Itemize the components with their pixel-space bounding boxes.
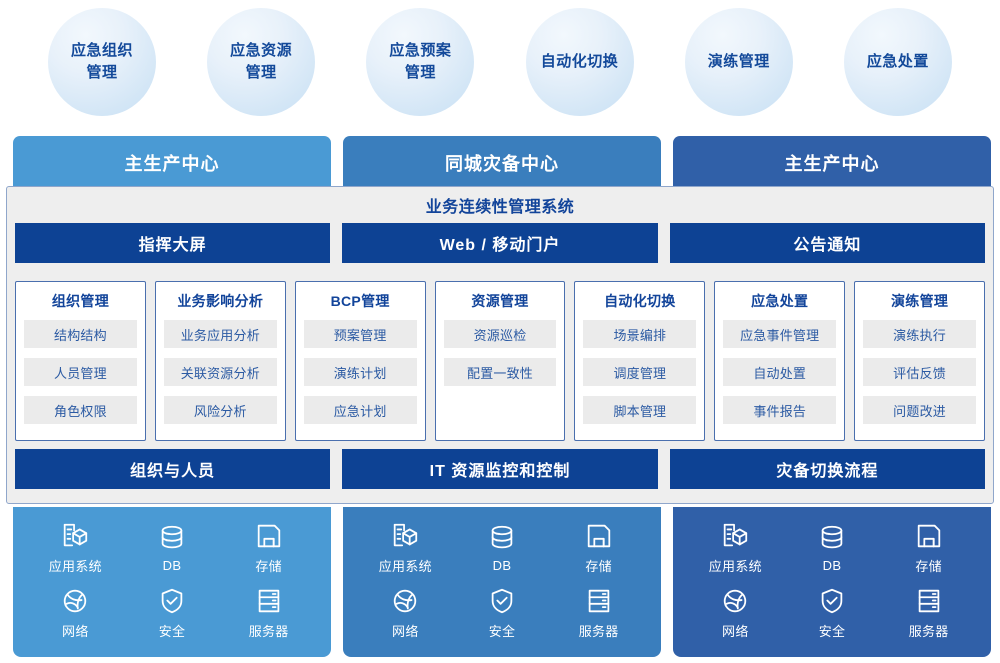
infra-item-label: DB xyxy=(493,558,512,573)
bar-it-resource-monitoring-control[interactable]: IT 资源监控和控制 xyxy=(342,449,657,489)
storage-icon xyxy=(584,521,614,551)
infra-item-label: 存储 xyxy=(255,556,282,575)
infra-item-security[interactable]: 安全 xyxy=(784,586,881,640)
bcm-architecture-diagram: 应急组织 管理 应急资源 管理 应急预案 管理 自动化切换 演练管理 应急处置 … xyxy=(0,0,1000,663)
center-header-primary-production[interactable]: 主生产中心 xyxy=(13,136,331,190)
infra-item-label: 安全 xyxy=(819,621,846,640)
server-rack-icon xyxy=(914,586,944,616)
infra-item-label: 服务器 xyxy=(909,621,949,640)
module-cards-row: 组织管理 结构结构 人员管理 角色权限 业务影响分析 业务应用分析 关联资源分析… xyxy=(15,281,985,441)
infra-item-label: 存储 xyxy=(915,556,942,575)
capability-circle-drill-management[interactable]: 演练管理 xyxy=(685,8,793,116)
infra-item-label: 服务器 xyxy=(249,621,289,640)
circle-line-2: 管理 xyxy=(405,62,436,84)
card-title: 组织管理 xyxy=(24,291,137,311)
infra-item-storage[interactable]: 存储 xyxy=(220,521,317,575)
chip-item[interactable]: 评估反馈 xyxy=(863,358,976,386)
capability-circle-emergency-organization[interactable]: 应急组织 管理 xyxy=(48,8,156,116)
circle-line-1: 演练管理 xyxy=(708,51,770,73)
infra-item-label: 网络 xyxy=(62,621,89,640)
chip-item[interactable]: 关联资源分析 xyxy=(164,358,277,386)
chip-item[interactable]: 风险分析 xyxy=(164,396,277,424)
infra-item-network[interactable]: 网络 xyxy=(357,586,454,640)
center-header-metro-dr[interactable]: 同城灾备中心 xyxy=(343,136,661,190)
bottom-bars-row: 组织与人员 IT 资源监控和控制 灾备切换流程 xyxy=(7,449,993,489)
card-title: 应急处置 xyxy=(723,291,836,311)
infrastructure-panel-primary-production: 应用系统 DB xyxy=(13,507,331,657)
chip-item[interactable]: 角色权限 xyxy=(24,396,137,424)
chip-item[interactable]: 事件报告 xyxy=(723,396,836,424)
chip-item[interactable]: 脚本管理 xyxy=(583,396,696,424)
infra-item-label: 服务器 xyxy=(579,621,619,640)
card-title: 业务影响分析 xyxy=(164,291,277,311)
infra-item-label: DB xyxy=(163,558,182,573)
infra-item-server[interactable]: 服务器 xyxy=(880,586,977,640)
capability-circle-emergency-resource[interactable]: 应急资源 管理 xyxy=(207,8,315,116)
database-icon xyxy=(817,523,847,553)
center-header-primary-production-2[interactable]: 主生产中心 xyxy=(673,136,991,190)
infrastructure-panel-primary-production-2: 应用系统 DB xyxy=(673,507,991,657)
circle-line-1: 应急组织 xyxy=(71,40,133,62)
infra-item-label: 安全 xyxy=(159,621,186,640)
circle-line-1: 应急处置 xyxy=(867,51,929,73)
circle-line-1: 应急资源 xyxy=(230,40,292,62)
infra-item-server[interactable]: 服务器 xyxy=(220,586,317,640)
circle-line-1: 应急预案 xyxy=(389,40,451,62)
database-icon xyxy=(487,523,517,553)
bcm-system-panel: 业务连续性管理系统 指挥大屏 Web / 移动门户 公告通知 组织管理 结构结构… xyxy=(6,186,994,504)
database-icon xyxy=(157,523,187,553)
infra-item-database[interactable]: DB xyxy=(454,523,551,573)
infra-item-label: 网络 xyxy=(722,621,749,640)
storage-icon xyxy=(254,521,284,551)
chip-item[interactable]: 业务应用分析 xyxy=(164,320,277,348)
chip-item[interactable]: 应急计划 xyxy=(304,396,417,424)
infra-item-security[interactable]: 安全 xyxy=(454,586,551,640)
card-emergency-handling[interactable]: 应急处置 应急事件管理 自动处置 事件报告 xyxy=(714,281,845,441)
application-system-icon xyxy=(60,521,90,551)
card-bcp-management[interactable]: BCP管理 预案管理 演练计划 应急计划 xyxy=(295,281,426,441)
chip-item[interactable]: 调度管理 xyxy=(583,358,696,386)
bar-organization-and-people[interactable]: 组织与人员 xyxy=(15,449,330,489)
chip-item[interactable]: 预案管理 xyxy=(304,320,417,348)
card-business-impact-analysis[interactable]: 业务影响分析 业务应用分析 关联资源分析 风险分析 xyxy=(155,281,286,441)
card-title: 资源管理 xyxy=(444,291,557,311)
infra-item-security[interactable]: 安全 xyxy=(124,586,221,640)
card-title: 自动化切换 xyxy=(583,291,696,311)
bar-command-screen[interactable]: 指挥大屏 xyxy=(15,223,330,263)
capability-circle-automated-switchover[interactable]: 自动化切换 xyxy=(526,8,634,116)
card-title: BCP管理 xyxy=(304,291,417,311)
bar-web-mobile-portal[interactable]: Web / 移动门户 xyxy=(342,223,657,263)
chip-item[interactable]: 自动处置 xyxy=(723,358,836,386)
infra-item-label: 应用系统 xyxy=(49,556,102,575)
infra-item-storage[interactable]: 存储 xyxy=(880,521,977,575)
chip-item[interactable]: 应急事件管理 xyxy=(723,320,836,348)
capability-circle-emergency-handling[interactable]: 应急处置 xyxy=(844,8,952,116)
data-center-headers-row: 主生产中心 同城灾备中心 主生产中心 xyxy=(0,136,1000,190)
infra-item-database[interactable]: DB xyxy=(124,523,221,573)
bar-announcement-notice[interactable]: 公告通知 xyxy=(670,223,985,263)
infra-item-application-system[interactable]: 应用系统 xyxy=(27,521,124,575)
card-organization-management[interactable]: 组织管理 结构结构 人员管理 角色权限 xyxy=(15,281,146,441)
network-icon xyxy=(60,586,90,616)
security-shield-icon xyxy=(157,586,187,616)
chip-item[interactable]: 资源巡检 xyxy=(444,320,557,348)
infra-item-label: 应用系统 xyxy=(709,556,762,575)
storage-icon xyxy=(914,521,944,551)
panel-title: 业务连续性管理系统 xyxy=(7,187,993,223)
bar-dr-switchover-process[interactable]: 灾备切换流程 xyxy=(670,449,985,489)
circle-line-2: 管理 xyxy=(246,62,277,84)
security-shield-icon xyxy=(817,586,847,616)
infra-item-label: 应用系统 xyxy=(379,556,432,575)
capability-circles-row: 应急组织 管理 应急资源 管理 应急预案 管理 自动化切换 演练管理 应急处置 xyxy=(0,8,1000,124)
security-shield-icon xyxy=(487,586,517,616)
network-icon xyxy=(390,586,420,616)
infra-item-database[interactable]: DB xyxy=(784,523,881,573)
chip-item[interactable]: 问题改进 xyxy=(863,396,976,424)
chip-item[interactable]: 结构结构 xyxy=(24,320,137,348)
top-bars-row: 指挥大屏 Web / 移动门户 公告通知 xyxy=(7,223,993,263)
infra-item-network[interactable]: 网络 xyxy=(687,586,784,640)
network-icon xyxy=(720,586,750,616)
infrastructure-panels-row: 应用系统 DB xyxy=(0,507,1000,657)
chip-item[interactable]: 配置一致性 xyxy=(444,358,557,386)
card-automated-switchover[interactable]: 自动化切换 场景编排 调度管理 脚本管理 xyxy=(574,281,705,441)
infra-item-application-system[interactable]: 应用系统 xyxy=(357,521,454,575)
infra-item-network[interactable]: 网络 xyxy=(27,586,124,640)
infrastructure-panel-metro-dr: 应用系统 DB xyxy=(343,507,661,657)
chip-item[interactable]: 场景编排 xyxy=(583,320,696,348)
chip-item[interactable]: 演练执行 xyxy=(863,320,976,348)
server-rack-icon xyxy=(584,586,614,616)
infra-item-label: 网络 xyxy=(392,621,419,640)
infra-item-label: 安全 xyxy=(489,621,516,640)
infra-item-server[interactable]: 服务器 xyxy=(550,586,647,640)
application-system-icon xyxy=(720,521,750,551)
infra-item-label: DB xyxy=(823,558,842,573)
circle-line-2: 管理 xyxy=(86,62,117,84)
chip-item[interactable]: 演练计划 xyxy=(304,358,417,386)
card-resource-management[interactable]: 资源管理 资源巡检 配置一致性 xyxy=(435,281,566,441)
circle-line-1: 自动化切换 xyxy=(541,51,619,73)
application-system-icon xyxy=(390,521,420,551)
card-drill-management[interactable]: 演练管理 演练执行 评估反馈 问题改进 xyxy=(854,281,985,441)
card-title: 演练管理 xyxy=(863,291,976,311)
server-rack-icon xyxy=(254,586,284,616)
capability-circle-emergency-plan[interactable]: 应急预案 管理 xyxy=(366,8,474,116)
chip-item[interactable]: 人员管理 xyxy=(24,358,137,386)
infra-item-application-system[interactable]: 应用系统 xyxy=(687,521,784,575)
infra-item-label: 存储 xyxy=(585,556,612,575)
infra-item-storage[interactable]: 存储 xyxy=(550,521,647,575)
